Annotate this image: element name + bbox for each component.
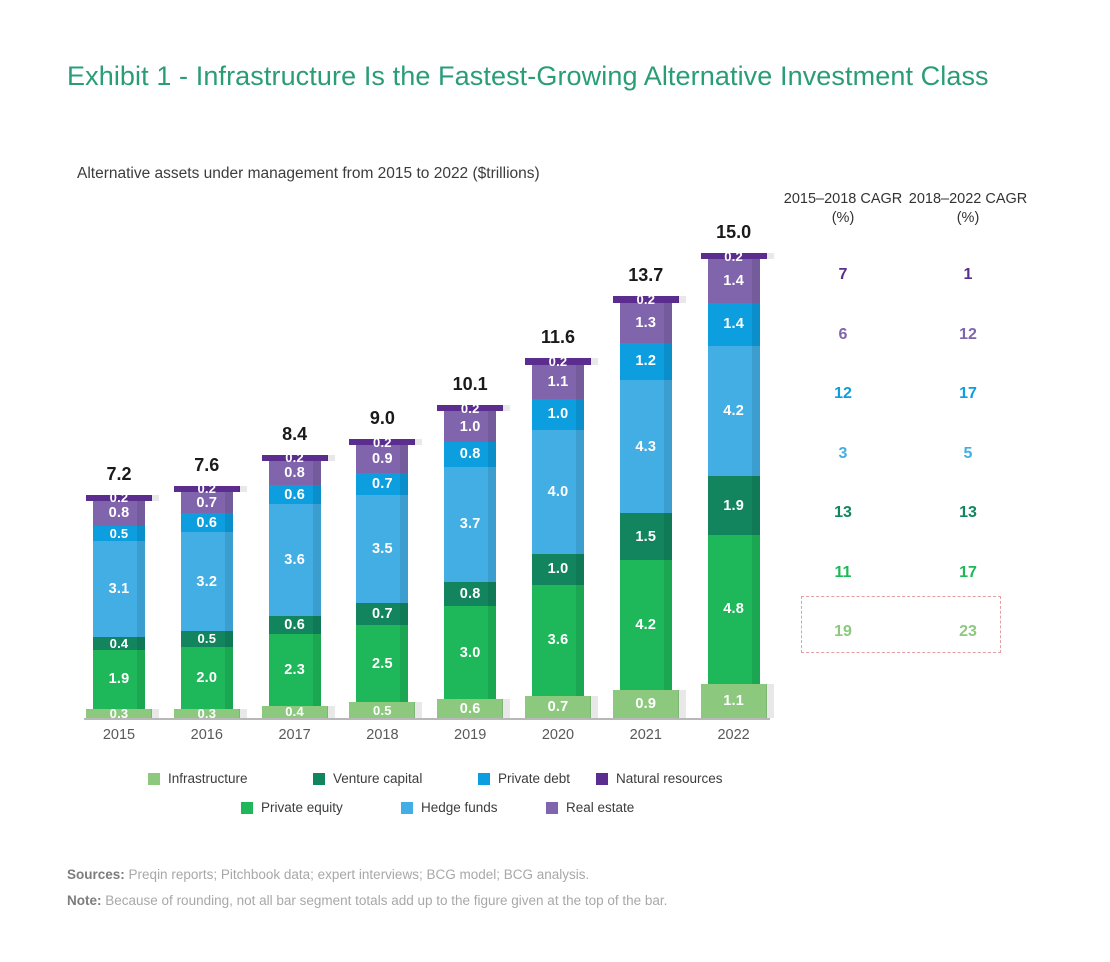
bar-segment[interactable]: 1.3 bbox=[620, 303, 672, 343]
bar-segment[interactable]: 4.2 bbox=[620, 560, 672, 690]
legend-item[interactable]: Hedge funds bbox=[401, 800, 498, 815]
bar-segment[interactable]: 0.8 bbox=[444, 582, 496, 607]
bar-segment-value: 1.4 bbox=[723, 316, 744, 332]
footnotes: Sources: Preqin reports; Pitchbook data;… bbox=[67, 862, 1047, 914]
x-axis-tick-label: 2016 bbox=[191, 727, 223, 743]
bar-segment[interactable]: 1.0 bbox=[532, 399, 584, 430]
bar-segment-value: 0.2 bbox=[285, 450, 304, 465]
bar-segment-value: 1.0 bbox=[548, 561, 569, 577]
bar-segment[interactable]: 0.6 bbox=[269, 616, 321, 635]
bar-segment[interactable]: 0.7 bbox=[356, 603, 408, 625]
cagr-row: 1217 bbox=[780, 364, 1040, 424]
chart-legend: InfrastructureVenture capitalPrivate deb… bbox=[148, 764, 768, 822]
bar-segment[interactable]: 3.6 bbox=[269, 504, 321, 616]
bar-stack[interactable]: 0.20.80.63.60.62.30.4 bbox=[269, 455, 321, 719]
bar-segment-value: 3.7 bbox=[460, 516, 481, 532]
x-axis-line bbox=[84, 718, 770, 720]
bar-segment-value: 0.7 bbox=[196, 495, 217, 511]
bar-segment-value: 4.2 bbox=[723, 403, 744, 419]
bar-stack[interactable]: 0.20.90.73.50.72.50.5 bbox=[356, 439, 408, 718]
bar-segment-value: 0.5 bbox=[373, 703, 392, 718]
bar-segment[interactable]: 4.3 bbox=[620, 380, 672, 513]
legend-label: Infrastructure bbox=[168, 771, 248, 786]
bar-stack[interactable]: 0.20.70.63.20.52.00.3 bbox=[181, 486, 233, 719]
cagr-table-header: 2015–2018 CAGR (%) 2018–2022 CAGR (%) bbox=[780, 190, 1040, 240]
footnote-sources-label: Sources: bbox=[67, 867, 125, 882]
legend-row-2: Private equityHedge fundsReal estate bbox=[148, 793, 768, 822]
bar-segment[interactable]: 1.9 bbox=[708, 476, 760, 535]
legend-item[interactable]: Natural resources bbox=[596, 771, 723, 786]
bar-stack[interactable]: 0.21.41.44.21.94.81.1 bbox=[708, 253, 760, 718]
bar-segment[interactable]: 1.1 bbox=[532, 365, 584, 399]
cagr-value-2018-2022: 17 bbox=[903, 543, 1033, 603]
bar-total-label: 9.0 bbox=[370, 408, 395, 429]
bar-total-label: 15.0 bbox=[716, 222, 751, 243]
bar-segment-value: 0.8 bbox=[460, 446, 481, 462]
bar-segment-value: 0.6 bbox=[196, 515, 217, 531]
cagr-value-2018-2022: 17 bbox=[903, 364, 1033, 424]
bar-segment-value: 2.5 bbox=[372, 656, 393, 672]
cagr-row: 1117 bbox=[780, 543, 1040, 603]
cagr-row: 71 bbox=[780, 245, 1040, 305]
x-axis-tick-label: 2020 bbox=[542, 727, 574, 743]
cagr-value-2015-2018: 3 bbox=[778, 424, 908, 484]
bar-segment[interactable]: 4.8 bbox=[708, 535, 760, 684]
cagr-value-2018-2022: 12 bbox=[903, 305, 1033, 365]
legend-swatch-icon bbox=[596, 773, 608, 785]
bar-segment-value: 0.7 bbox=[372, 606, 393, 622]
bar-segment-value: 0.4 bbox=[110, 636, 129, 651]
bar-segment-value: 0.8 bbox=[460, 586, 481, 602]
cagr-value-2015-2018: 13 bbox=[778, 483, 908, 543]
footnote-sources: Sources: Preqin reports; Pitchbook data;… bbox=[67, 862, 1047, 888]
chart-plot-area: 0.20.80.53.10.41.90.37.220150.20.70.63.2… bbox=[0, 0, 800, 760]
bar-segment-value: 0.6 bbox=[284, 487, 305, 503]
bar-segment-value: 2.3 bbox=[284, 662, 305, 678]
legend-item[interactable]: Private equity bbox=[241, 800, 343, 815]
bar-stack[interactable]: 0.20.80.53.10.41.90.3 bbox=[93, 495, 145, 718]
bar-segment-value: 1.1 bbox=[723, 693, 744, 709]
bar-segment-value: 0.5 bbox=[110, 526, 129, 541]
bar-segment-value: 1.9 bbox=[109, 671, 130, 687]
footnote-note-label: Note: bbox=[67, 893, 102, 908]
x-axis-tick-label: 2019 bbox=[454, 727, 486, 743]
cagr-value-2015-2018: 6 bbox=[778, 305, 908, 365]
bar-segment-value: 0.6 bbox=[460, 701, 481, 717]
bar-segment[interactable]: 0.5 bbox=[181, 631, 233, 647]
legend-swatch-icon bbox=[546, 802, 558, 814]
bar-segment-value: 4.8 bbox=[723, 601, 744, 617]
bar-segment[interactable]: 0.6 bbox=[437, 699, 503, 718]
bar-segment[interactable]: 1.0 bbox=[444, 411, 496, 442]
cagr-value-2015-2018: 11 bbox=[778, 543, 908, 603]
bar-segment[interactable]: 4.0 bbox=[532, 430, 584, 554]
bar-segment-value: 0.2 bbox=[461, 401, 480, 416]
bar-segment-value: 3.0 bbox=[460, 645, 481, 661]
bar-segment-value: 1.2 bbox=[635, 353, 656, 369]
bar-segment-value: 3.6 bbox=[548, 632, 569, 648]
legend-swatch-icon bbox=[241, 802, 253, 814]
bar-segment-value: 0.9 bbox=[635, 696, 656, 712]
bar-segment-value: 3.2 bbox=[196, 574, 217, 590]
bar-stack[interactable]: 0.21.11.04.01.03.60.7 bbox=[532, 358, 584, 718]
bar-segment-value: 0.8 bbox=[284, 465, 305, 481]
bar-segment[interactable]: 1.0 bbox=[532, 554, 584, 585]
bar-segment[interactable]: 4.2 bbox=[708, 346, 760, 476]
bar-segment[interactable]: 3.5 bbox=[356, 495, 408, 604]
legend-label: Private debt bbox=[498, 771, 570, 786]
bar-total-label: 11.6 bbox=[541, 327, 575, 348]
bar-segment-value: 1.5 bbox=[635, 529, 656, 545]
bar-segment-value: 4.2 bbox=[635, 617, 656, 633]
bar-segment-value: 0.7 bbox=[372, 476, 393, 492]
cagr-value-2018-2022: 1 bbox=[903, 245, 1033, 305]
footnote-sources-text: Preqin reports; Pitchbook data; expert i… bbox=[129, 867, 590, 882]
bar-segment-value: 0.2 bbox=[110, 490, 129, 505]
bar-total-label: 10.1 bbox=[453, 374, 488, 395]
bar-segment-value: 1.0 bbox=[548, 406, 569, 422]
bar-segment-value: 0.2 bbox=[373, 435, 392, 450]
bar-segment[interactable]: 0.8 bbox=[269, 461, 321, 486]
bar-segment[interactable]: 0.4 bbox=[262, 706, 328, 718]
bar-segment-value: 0.8 bbox=[109, 505, 130, 521]
bar-total-label: 8.4 bbox=[282, 424, 307, 445]
bar-segment-value: 0.7 bbox=[548, 699, 569, 715]
cagr-row: 1313 bbox=[780, 483, 1040, 543]
bar-group: 0.20.70.63.20.52.00.37.62016 bbox=[181, 0, 233, 718]
bar-segment-value: 4.0 bbox=[548, 484, 569, 500]
bar-segment-value: 2.0 bbox=[196, 670, 217, 686]
bar-segment[interactable]: 0.7 bbox=[356, 473, 408, 495]
bar-segment[interactable]: 3.7 bbox=[444, 467, 496, 582]
cagr-value-2015-2018: 7 bbox=[778, 245, 908, 305]
bar-group: 0.20.90.73.50.72.50.59.02018 bbox=[356, 0, 408, 718]
bar-segment-value: 1.4 bbox=[723, 273, 744, 289]
bar-group: 0.20.80.63.60.62.30.48.42017 bbox=[269, 0, 321, 718]
bar-segment[interactable]: 0.5 bbox=[349, 702, 415, 718]
cagr-value-2018-2022: 5 bbox=[903, 424, 1033, 484]
legend-swatch-icon bbox=[401, 802, 413, 814]
bar-segment[interactable]: 2.3 bbox=[269, 634, 321, 705]
bar-segment[interactable]: 1.1 bbox=[701, 684, 767, 718]
bar-segment[interactable]: 3.2 bbox=[181, 532, 233, 631]
cagr-value-2015-2018: 12 bbox=[778, 364, 908, 424]
bar-segment[interactable]: 0.7 bbox=[525, 696, 591, 718]
bar-segment[interactable]: 0.6 bbox=[269, 485, 321, 504]
bar-group: 0.21.31.24.31.54.20.913.72021 bbox=[620, 0, 672, 718]
bar-segment-value: 1.9 bbox=[723, 498, 744, 514]
bar-segment-value: 0.2 bbox=[636, 292, 655, 307]
bar-group: 0.21.41.44.21.94.81.115.02022 bbox=[708, 0, 760, 718]
bar-segment[interactable]: 0.5 bbox=[93, 526, 145, 542]
bar-segment[interactable]: 0.7 bbox=[181, 492, 233, 514]
cagr-value-2018-2022: 13 bbox=[903, 483, 1033, 543]
cagr-row: 35 bbox=[780, 424, 1040, 484]
bar-segment[interactable]: 0.8 bbox=[444, 442, 496, 467]
bar-segment-value: 0.9 bbox=[372, 451, 393, 467]
bar-segment[interactable]: 1.4 bbox=[708, 303, 760, 346]
bar-segment[interactable]: 2.0 bbox=[181, 647, 233, 709]
bar-total-label: 7.6 bbox=[194, 455, 219, 476]
x-axis-tick-label: 2021 bbox=[630, 727, 662, 743]
bar-stack[interactable]: 0.21.00.83.70.83.00.6 bbox=[444, 405, 496, 718]
legend-row-1: InfrastructureVenture capitalPrivate deb… bbox=[148, 764, 768, 793]
bar-segment[interactable]: 3.6 bbox=[532, 585, 584, 697]
bar-segment[interactable]: 1.9 bbox=[93, 650, 145, 709]
bar-segment-value: 0.3 bbox=[197, 706, 216, 721]
legend-label: Venture capital bbox=[333, 771, 422, 786]
x-axis-tick-label: 2018 bbox=[366, 727, 398, 743]
legend-label: Hedge funds bbox=[421, 800, 498, 815]
legend-item[interactable]: Private debt bbox=[478, 771, 570, 786]
bar-group: 0.21.00.83.70.83.00.610.12019 bbox=[444, 0, 496, 718]
bar-segment-value: 0.5 bbox=[197, 631, 216, 646]
legend-item[interactable]: Venture capital bbox=[313, 771, 422, 786]
cagr-header-2018-2022: 2018–2022 CAGR (%) bbox=[903, 190, 1033, 228]
bar-segment-value: 0.2 bbox=[549, 354, 568, 369]
bar-segment-value: 4.3 bbox=[635, 439, 656, 455]
bar-segment-value: 1.1 bbox=[548, 374, 569, 390]
legend-label: Natural resources bbox=[616, 771, 723, 786]
bar-segment-value: 1.3 bbox=[635, 315, 656, 331]
bar-segment-value: 3.6 bbox=[284, 552, 305, 568]
bar-group: 0.20.80.53.10.41.90.37.22015 bbox=[93, 0, 145, 718]
legend-swatch-icon bbox=[148, 773, 160, 785]
bar-total-label: 7.2 bbox=[106, 464, 131, 485]
bar-segment[interactable]: 1.5 bbox=[620, 513, 672, 560]
legend-label: Real estate bbox=[566, 800, 634, 815]
legend-swatch-icon bbox=[313, 773, 325, 785]
cagr-table: 2015–2018 CAGR (%) 2018–2022 CAGR (%) 71… bbox=[780, 190, 1040, 240]
legend-item[interactable]: Infrastructure bbox=[148, 771, 248, 786]
footnote-note: Note: Because of rounding, not all bar s… bbox=[67, 888, 1047, 914]
bar-segment[interactable]: 1.4 bbox=[708, 259, 760, 302]
bar-segment-value: 3.5 bbox=[372, 541, 393, 557]
legend-item[interactable]: Real estate bbox=[546, 800, 634, 815]
legend-label: Private equity bbox=[261, 800, 343, 815]
x-axis-tick-label: 2022 bbox=[717, 727, 749, 743]
bar-segment[interactable]: 0.6 bbox=[181, 513, 233, 532]
bar-segment[interactable]: 0.9 bbox=[613, 690, 679, 718]
cagr-highlight-box bbox=[801, 596, 1001, 653]
bar-group: 0.21.11.04.01.03.60.711.62020 bbox=[532, 0, 584, 718]
cagr-header-2015-2018: 2015–2018 CAGR (%) bbox=[778, 190, 908, 228]
bar-stack[interactable]: 0.21.31.24.31.54.20.9 bbox=[620, 296, 672, 718]
bar-segment[interactable]: 2.5 bbox=[356, 625, 408, 703]
legend-swatch-icon bbox=[478, 773, 490, 785]
bar-segment-value: 0.4 bbox=[285, 704, 304, 719]
cagr-row: 612 bbox=[780, 305, 1040, 365]
bar-segment[interactable]: 1.2 bbox=[620, 343, 672, 380]
bar-segment-value: 0.6 bbox=[284, 617, 305, 633]
bar-segment[interactable]: 3.1 bbox=[93, 541, 145, 637]
x-axis-tick-label: 2015 bbox=[103, 727, 135, 743]
bar-segment[interactable]: 0.8 bbox=[93, 501, 145, 526]
footnote-note-text: Because of rounding, not all bar segment… bbox=[105, 893, 667, 908]
bar-segment[interactable]: 3.0 bbox=[444, 606, 496, 699]
bar-segment-value: 1.0 bbox=[460, 419, 481, 435]
bar-segment-value: 0.2 bbox=[724, 249, 743, 264]
bar-segment-value: 0.3 bbox=[110, 706, 129, 721]
bar-segment[interactable]: 0.3 bbox=[86, 709, 152, 718]
bar-total-label: 13.7 bbox=[628, 265, 663, 286]
bar-segment[interactable]: 0.4 bbox=[93, 637, 145, 649]
x-axis-tick-label: 2017 bbox=[278, 727, 310, 743]
bar-segment-value: 3.1 bbox=[109, 581, 130, 597]
bar-segment[interactable]: 0.3 bbox=[174, 709, 240, 718]
